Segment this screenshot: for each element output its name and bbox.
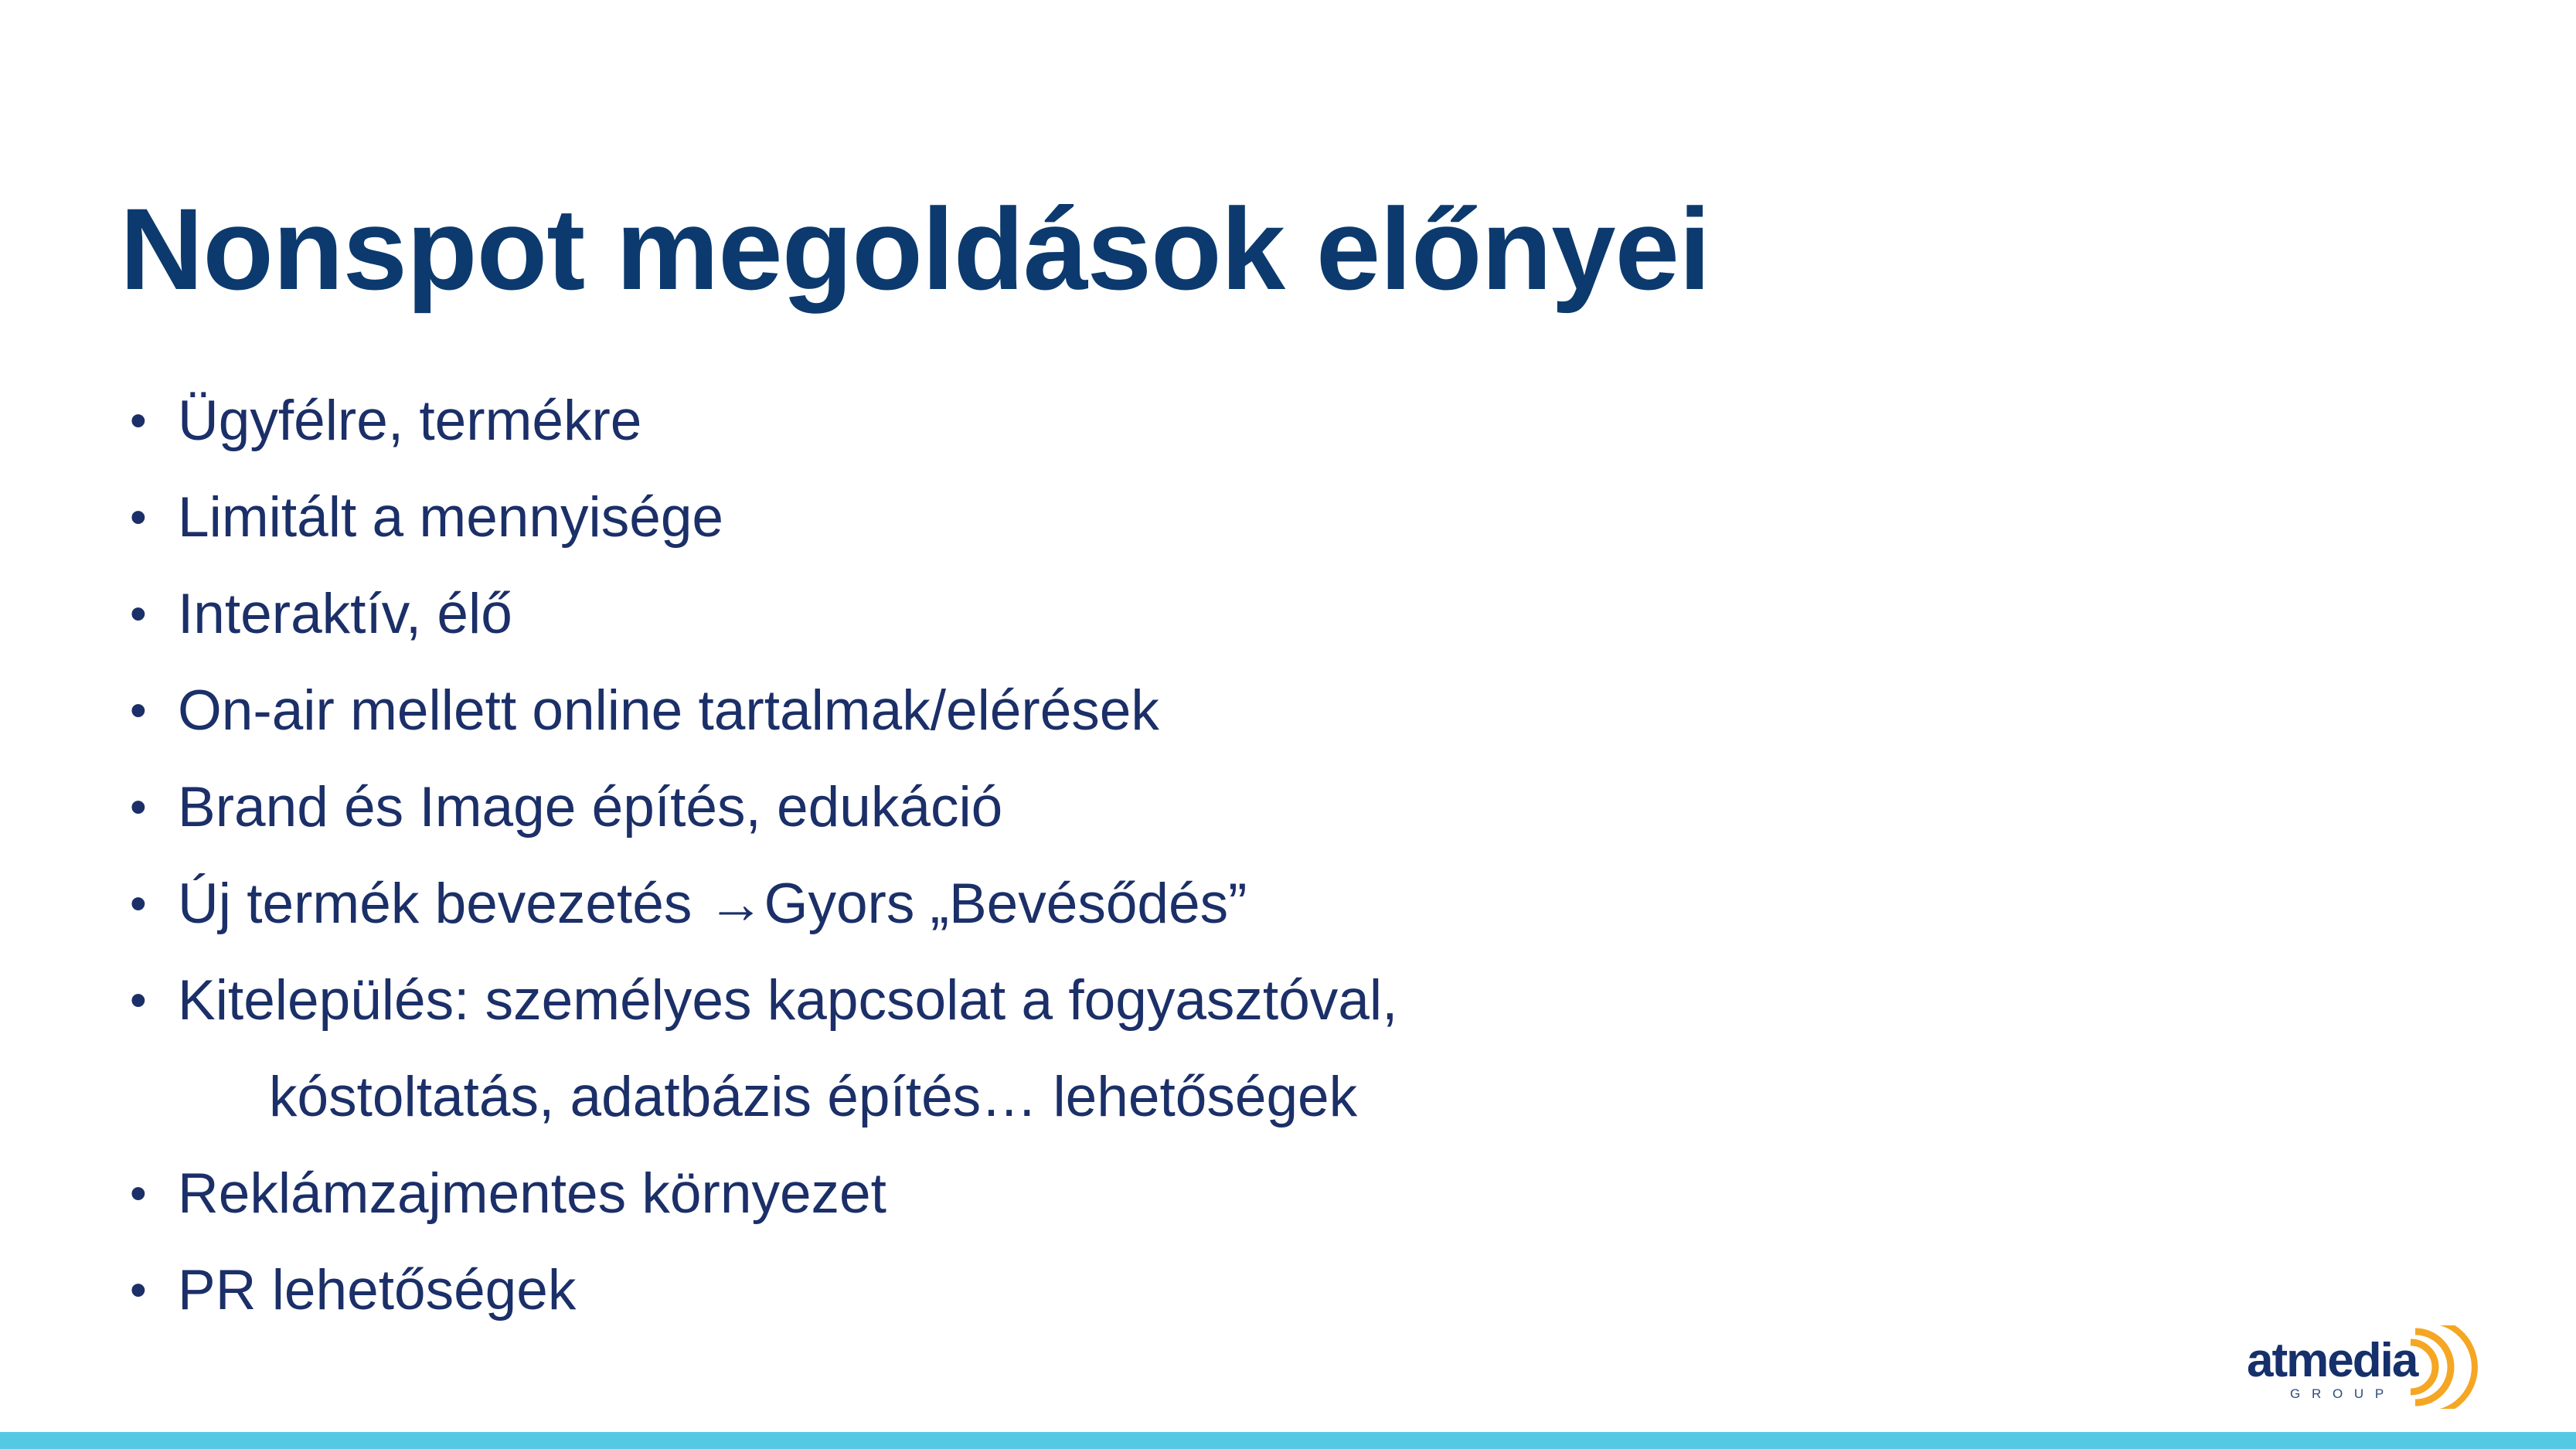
list-item-label: Ügyfélre, termékre	[178, 372, 641, 469]
list-item-label: Kitelepülés: személyes kapcsolat a fogya…	[178, 952, 1397, 1049]
bullet-marker-icon: •	[130, 469, 161, 566]
logo-arcs-icon	[2411, 1325, 2475, 1409]
bullet-marker-icon: •	[130, 566, 161, 662]
bullet-list: •Ügyfélre, termékre•Limitált a mennyiség…	[124, 372, 2210, 1338]
list-item-label: Brand és Image építés, edukáció	[178, 759, 1002, 855]
bullet-marker-icon: •	[130, 1145, 161, 1242]
list-item-label: Interaktív, élő	[178, 566, 512, 662]
bullet-marker-icon: •	[130, 855, 161, 952]
bullet-marker-icon: •	[130, 759, 161, 855]
bullet-continuation-line: •kóstoltatás, adatbázis építés… lehetősé…	[124, 1049, 2210, 1145]
list-item: •Interaktív, élő	[124, 566, 2210, 662]
list-item: •Új termék bevezetés →Gyors „Bevésődés”	[124, 855, 2210, 952]
list-item: •PR lehetőségek	[124, 1242, 2210, 1338]
list-item-label: PR lehetőségek	[178, 1242, 576, 1338]
list-item: •Reklámzajmentes környezet	[124, 1145, 2210, 1242]
list-item: •Brand és Image építés, edukáció	[124, 759, 2210, 855]
list-item-label: On-air mellett online tartalmak/elérések	[178, 662, 1159, 759]
bullet-marker-icon: •	[130, 952, 161, 1049]
slide: Nonspot megoldások előnyei •Ügyfélre, te…	[0, 0, 2576, 1449]
list-item: •Ügyfélre, termékre	[124, 372, 2210, 469]
list-item: •On-air mellett online tartalmak/elérése…	[124, 662, 2210, 759]
logo-tagline: G R O U P	[2290, 1386, 2387, 1401]
list-item-label: Reklámzajmentes környezet	[178, 1145, 886, 1242]
list-item-label: Limitált a mennyisége	[178, 469, 723, 566]
list-item-label: Új termék bevezetés →Gyors „Bevésődés”	[178, 855, 1247, 952]
bullet-marker-icon: •	[130, 662, 161, 759]
logo-wordmark: atmedia	[2247, 1334, 2419, 1387]
list-item-label: kóstoltatás, adatbázis építés… lehetőség…	[269, 1049, 1357, 1145]
list-item: •Kitelepülés: személyes kapcsolat a fogy…	[124, 952, 2210, 1049]
page-title: Nonspot megoldások előnyei	[120, 186, 2361, 311]
bullet-marker-icon: •	[130, 1242, 161, 1338]
list-item: •Limitált a mennyisége	[124, 469, 2210, 566]
bullet-marker-icon: •	[130, 372, 161, 469]
atmedia-group-logo: atmedia G R O U P	[2245, 1325, 2485, 1409]
bottom-accent-bar	[0, 1432, 2576, 1449]
